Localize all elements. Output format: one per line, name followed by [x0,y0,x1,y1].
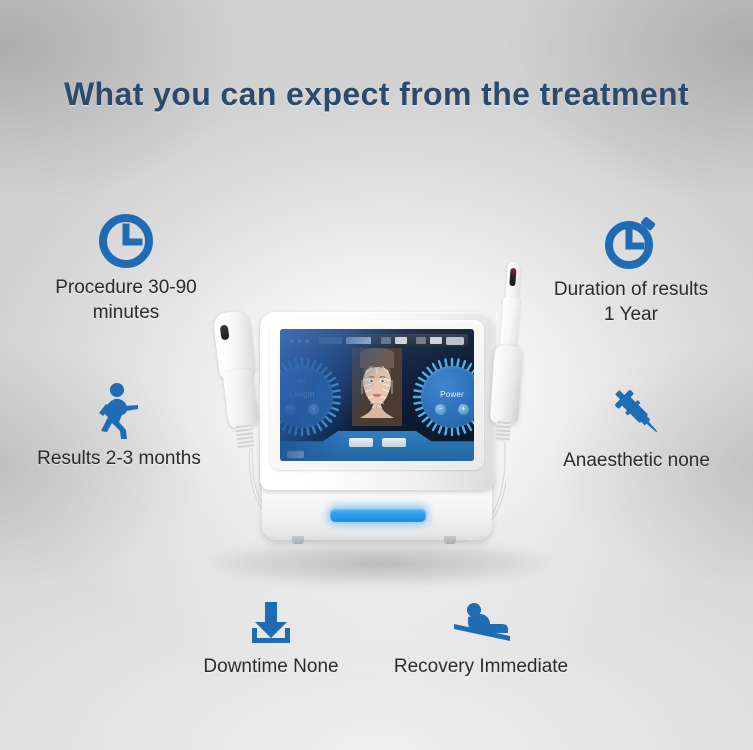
face-treatment-lines [352,348,402,426]
right-handpiece-grip [490,345,523,425]
feature-anaesthetic-label: Anaesthetic none [563,450,710,471]
power-decrease-button[interactable]: − [435,404,446,415]
feature-results-label: Results 2-3 months [37,448,201,469]
clock-icon [8,213,244,269]
patient-face-image [352,348,402,426]
power-increase-button[interactable]: + [458,404,469,415]
screen-action-buttons [280,438,474,447]
status-indicator-3 [305,339,309,343]
status-indicator-2 [298,339,302,343]
stopwatch-icon [512,213,750,271]
left-handpiece-cartridge-slot [220,325,230,341]
device-touchscreen[interactable]: mm Length − + [280,329,474,461]
reclining-person-icon [374,600,588,648]
screen-status-bar [286,334,468,347]
power-dial-buttons: − + [412,404,474,415]
machine-foot-right [444,536,456,544]
length-decrease-button[interactable]: − [285,404,296,415]
statusbar-param2-value[interactable] [430,337,442,344]
statusbar-value-field[interactable] [346,337,371,344]
statusbar-param1-value[interactable] [395,337,407,344]
feature-procedure-label: Procedure 30-90 minutes [55,277,197,323]
feature-results: Results 2-3 months [0,382,238,471]
syringe-icon [520,382,753,442]
status-indicator-1 [290,339,294,343]
power-dial-label: Power [412,390,474,399]
length-dial-unit: mm [280,379,342,385]
infographic-canvas: What you can expect from the treatment [0,0,753,750]
statusbar-param2-label [416,337,426,344]
screen-corner-button[interactable] [287,451,304,458]
running-person-icon [0,382,238,440]
feature-recovery-label: Recovery Immediate [394,656,568,677]
feature-downtime-label: Downtime None [203,656,338,677]
page-title: What you can expect from the treatment [0,76,753,113]
length-dial-buttons: − + [280,404,342,415]
download-arrow-icon [178,600,364,648]
statusbar-param1-label [381,337,391,344]
length-increase-button[interactable]: + [308,404,319,415]
feature-procedure: Procedure 30-90 minutes [8,213,244,325]
feature-duration-label: Duration of results 1 Year [554,279,708,325]
feature-duration: Duration of results 1 Year [512,213,750,327]
screen-bezel: mm Length − + [270,320,484,470]
feature-recovery: Recovery Immediate [374,600,588,679]
feature-anaesthetic: Anaesthetic none [520,382,753,473]
length-dial-label: Length [280,390,342,399]
screen-action-button-2[interactable] [382,438,406,447]
machine-foot-left [292,536,304,544]
length-dial[interactable]: mm Length − + [280,357,342,437]
statusbar-action-button[interactable] [446,337,464,345]
hifu-machine: mm Length − + [248,300,506,562]
feature-downtime: Downtime None [178,600,364,679]
screen-action-button-1[interactable] [349,438,373,447]
right-handpiece-strain-relief [495,419,511,442]
statusbar-label-field [319,337,342,344]
status-led-strip [330,508,426,522]
power-dial[interactable]: Power − + [412,357,474,437]
